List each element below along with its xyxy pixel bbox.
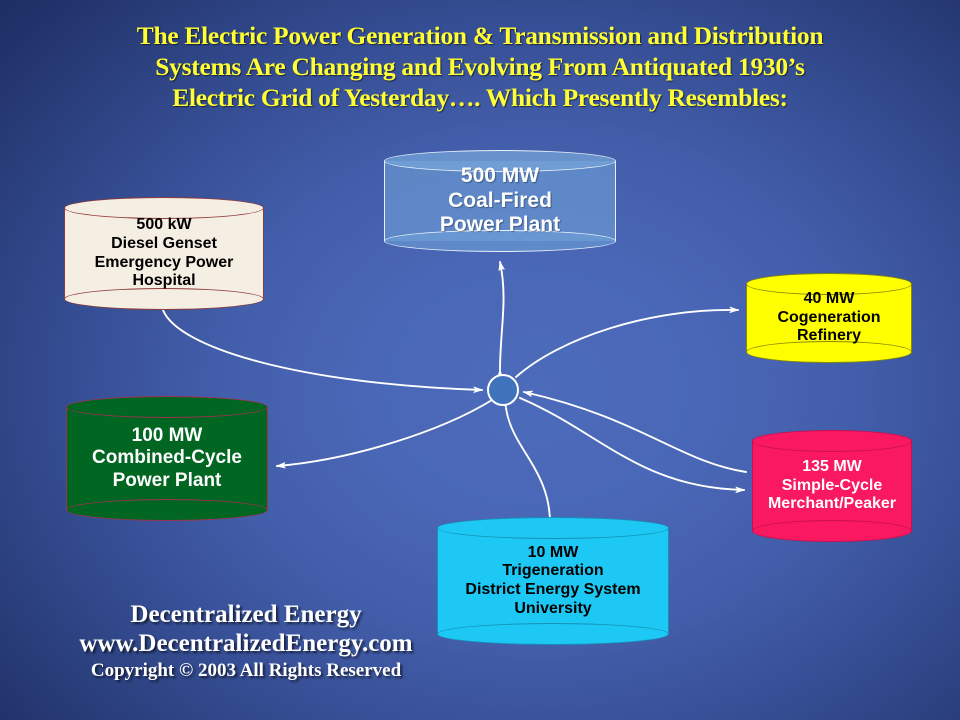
node-label-line: 40 MW (804, 290, 855, 309)
node-label-line: Merchant/Peaker (768, 495, 896, 514)
connector-hub-to-cogeneration (516, 310, 738, 377)
node-label-line: Diesel Genset (111, 235, 217, 254)
connector-hub-to-combined-cycle (277, 400, 492, 466)
node-label-line: District Energy System (465, 581, 640, 600)
node-label-line: 100 MW (132, 425, 203, 447)
node-label-line: Simple-Cycle (782, 477, 882, 496)
connector-hub-to-coal-fired (500, 262, 504, 370)
node-trigeneration-district-energy[interactable]: 10 MW Trigeneration District Energy Syst… (437, 517, 669, 645)
node-label-line: Refinery (797, 327, 861, 346)
node-label-line: Emergency Power (95, 254, 234, 273)
node-label-line: Power Plant (113, 470, 222, 492)
node-label-line: 10 MW (528, 544, 579, 563)
connector-simple-cycle-to-hub (524, 392, 746, 472)
footer-brand: Decentralized Energy (36, 600, 456, 629)
node-label-line: Hospital (132, 272, 195, 291)
node-diesel-genset[interactable]: 500 kW Diesel Genset Emergency Power Hos… (64, 197, 264, 310)
footer-website[interactable]: www.DecentralizedEnergy.com (36, 629, 456, 658)
node-label-line: Trigeneration (502, 562, 603, 581)
title-line-3: Electric Grid of Yesterday…. Which Prese… (0, 82, 960, 113)
connector-hub-to-trigeneration (506, 408, 550, 528)
node-label: 500 MW Coal-Fired Power Plant (384, 150, 616, 252)
node-label-line: Coal-Fired (448, 189, 552, 213)
node-label: 10 MW Trigeneration District Energy Syst… (437, 517, 669, 645)
footer-attribution: Decentralized Energy www.DecentralizedEn… (36, 600, 456, 683)
node-cogeneration-refinery[interactable]: 40 MW Cogeneration Refinery (746, 273, 912, 363)
node-coal-fired-power-plant[interactable]: 500 MW Coal-Fired Power Plant (384, 150, 616, 252)
grid-interconnection-hub[interactable] (487, 374, 519, 406)
node-label-line: 500 MW (461, 164, 539, 188)
node-label-line: Power Plant (440, 213, 560, 237)
slide-canvas: The Electric Power Generation & Transmis… (0, 0, 960, 720)
connector-hub-to-simple-cycle (520, 398, 744, 490)
node-label: 40 MW Cogeneration Refinery (746, 273, 912, 363)
footer-copyright: Copyright © 2003 All Rights Reserved (36, 658, 456, 683)
connector-diesel-genset-to-hub (163, 310, 482, 390)
title-line-1: The Electric Power Generation & Transmis… (0, 20, 960, 51)
title-line-2: Systems Are Changing and Evolving From A… (0, 51, 960, 82)
node-combined-cycle-power-plant[interactable]: 100 MW Combined-Cycle Power Plant (66, 396, 268, 521)
page-title: The Electric Power Generation & Transmis… (0, 20, 960, 113)
node-label: 135 MW Simple-Cycle Merchant/Peaker (752, 430, 912, 542)
node-label: 100 MW Combined-Cycle Power Plant (66, 396, 268, 521)
node-label-line: University (514, 600, 591, 619)
node-label-line: 135 MW (802, 458, 862, 477)
node-label-line: 500 kW (136, 216, 191, 235)
node-label-line: Combined-Cycle (92, 447, 242, 469)
node-label: 500 kW Diesel Genset Emergency Power Hos… (64, 197, 264, 310)
node-simple-cycle-merchant-peaker[interactable]: 135 MW Simple-Cycle Merchant/Peaker (752, 430, 912, 542)
node-label-line: Cogeneration (777, 309, 880, 328)
